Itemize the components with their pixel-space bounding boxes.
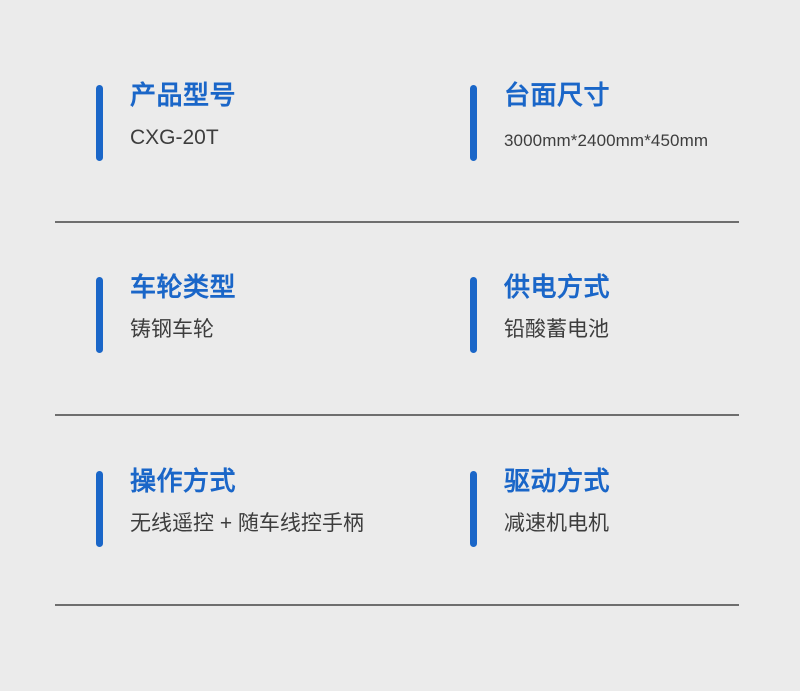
spec-value: 减速机电机 <box>504 509 610 539</box>
spec-value: 无线遥控 + 随车线控手柄 <box>130 509 364 539</box>
divider <box>55 604 739 606</box>
divider <box>55 221 739 223</box>
spec-row: 车轮类型 铸钢车轮 供电方式 铅酸蓄电池 <box>0 270 800 380</box>
accent-bar-icon <box>470 471 477 547</box>
spec-item-table-size: 台面尺寸 3000mm*2400mm*450mm <box>387 78 800 188</box>
spec-row: 产品型号 CXG-20T 台面尺寸 3000mm*2400mm*450mm <box>0 78 800 188</box>
spec-text-block: 驱动方式 减速机电机 <box>504 464 610 539</box>
spec-text-block: 产品型号 CXG-20T <box>130 78 236 153</box>
spec-text-block: 操作方式 无线遥控 + 随车线控手柄 <box>130 464 364 539</box>
spec-sheet: 产品型号 CXG-20T 台面尺寸 3000mm*2400mm*450mm 车轮… <box>0 0 800 691</box>
accent-bar-icon <box>96 471 103 547</box>
spec-row: 操作方式 无线遥控 + 随车线控手柄 驱动方式 减速机电机 <box>0 464 800 574</box>
spec-item-operation-mode: 操作方式 无线遥控 + 随车线控手柄 <box>0 464 387 574</box>
accent-bar-icon <box>470 277 477 353</box>
spec-value: 铸钢车轮 <box>130 315 236 345</box>
spec-title: 产品型号 <box>130 78 236 112</box>
spec-title: 操作方式 <box>130 464 364 498</box>
spec-text-block: 台面尺寸 3000mm*2400mm*450mm <box>504 78 708 156</box>
accent-bar-icon <box>470 85 477 161</box>
spec-title: 供电方式 <box>504 270 610 304</box>
spec-item-drive-mode: 驱动方式 减速机电机 <box>387 464 800 574</box>
spec-value: 铅酸蓄电池 <box>504 315 610 345</box>
accent-bar-icon <box>96 85 103 161</box>
spec-item-product-model: 产品型号 CXG-20T <box>0 78 387 188</box>
spec-item-wheel-type: 车轮类型 铸钢车轮 <box>0 270 387 380</box>
spec-text-block: 车轮类型 铸钢车轮 <box>130 270 236 345</box>
spec-text-block: 供电方式 铅酸蓄电池 <box>504 270 610 345</box>
divider <box>55 414 739 416</box>
accent-bar-icon <box>96 277 103 353</box>
spec-item-power-supply: 供电方式 铅酸蓄电池 <box>387 270 800 380</box>
spec-title: 台面尺寸 <box>504 78 708 112</box>
spec-title: 驱动方式 <box>504 464 610 498</box>
spec-value: CXG-20T <box>130 123 236 153</box>
spec-title: 车轮类型 <box>130 270 236 304</box>
spec-value: 3000mm*2400mm*450mm <box>504 126 708 156</box>
